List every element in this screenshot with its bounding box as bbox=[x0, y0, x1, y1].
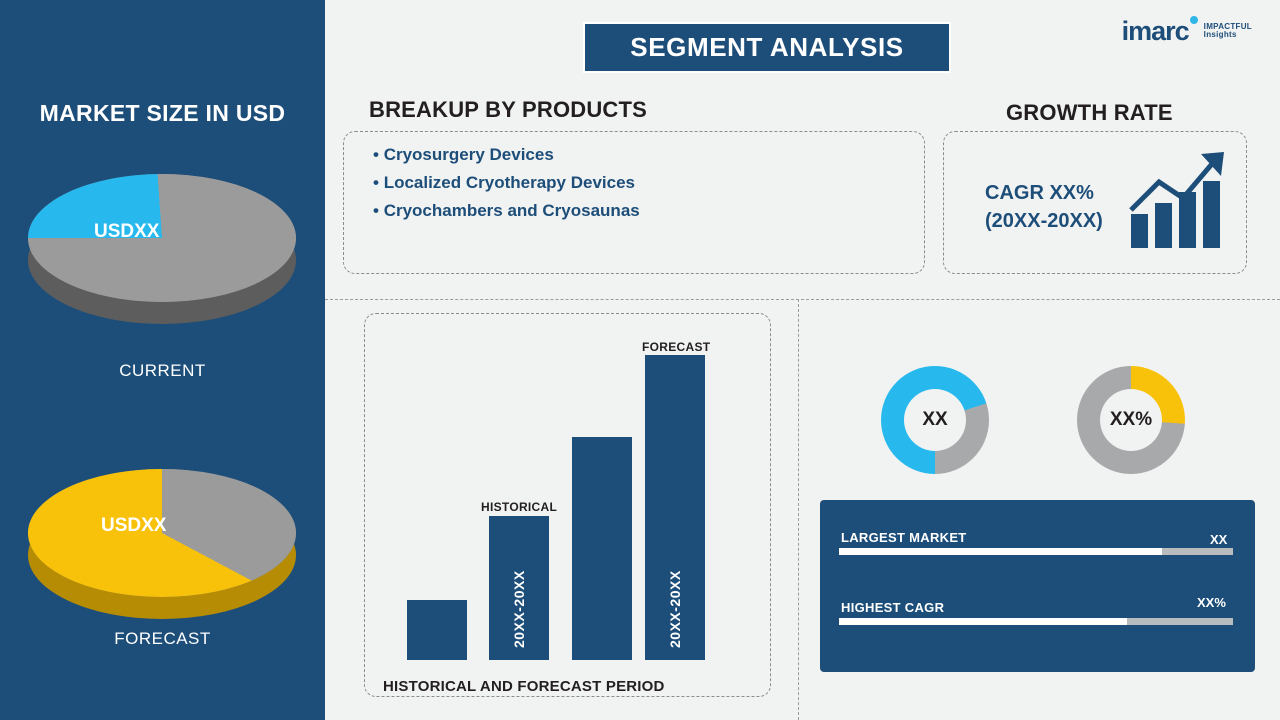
breakup-item-2: Cryochambers and Cryosaunas bbox=[373, 197, 640, 225]
donut-left: XX bbox=[881, 366, 989, 474]
bar-0 bbox=[407, 600, 467, 660]
breakup-list: Cryosurgery Devices Localized Cryotherap… bbox=[373, 141, 640, 225]
left-panel: MARKET SIZE IN USD USDXX CURRENT USDXX F… bbox=[0, 0, 325, 720]
banner-title: SEGMENT ANALYSIS bbox=[630, 32, 904, 63]
pie-chart-current: USDXX bbox=[28, 160, 296, 310]
logo-dot-icon bbox=[1190, 16, 1198, 24]
donut-left-hole: XX bbox=[904, 389, 966, 451]
segment-analysis-banner: SEGMENT ANALYSIS bbox=[583, 22, 951, 73]
growth-section-title: GROWTH RATE bbox=[1006, 100, 1173, 126]
breakup-item-0: Cryosurgery Devices bbox=[373, 141, 640, 169]
stat-1-value: XX% bbox=[1197, 595, 1226, 610]
stats-card bbox=[820, 500, 1255, 672]
cagr-line2: (20XX-20XX) bbox=[985, 207, 1103, 235]
annotation-forecast: FORECAST bbox=[642, 340, 710, 354]
cagr-text: CAGR XX% (20XX-20XX) bbox=[985, 179, 1103, 235]
breakup-item-1: Localized Cryotherapy Devices bbox=[373, 169, 640, 197]
annotation-historical: HISTORICAL bbox=[481, 500, 557, 514]
pie-forecast-value: USDXX bbox=[101, 515, 166, 537]
pie-chart-forecast: USDXX bbox=[28, 455, 296, 605]
logo-tagline-line2: Insights bbox=[1204, 31, 1252, 39]
stat-0-fill bbox=[839, 548, 1162, 555]
pie-current-label: CURRENT bbox=[0, 361, 325, 381]
growth-arrow-icon bbox=[1125, 148, 1235, 252]
pie-current-value: USDXX bbox=[94, 221, 159, 243]
infographic-root: MARKET SIZE IN USD USDXX CURRENT USDXX F… bbox=[0, 0, 1280, 720]
donut-right: XX% bbox=[1077, 366, 1185, 474]
pie-forecast-label: FORECAST bbox=[0, 629, 325, 649]
stat-1-label: HIGHEST CAGR bbox=[841, 600, 944, 615]
imarc-logo: imarc IMPACTFUL Insights bbox=[1122, 14, 1252, 48]
donut-right-value: XX% bbox=[1110, 409, 1152, 431]
chart-xlabel: HISTORICAL AND FORECAST PERIOD bbox=[383, 678, 665, 695]
stat-0-value: XX bbox=[1210, 532, 1227, 547]
bar-1-label: 20XX-20XX bbox=[511, 543, 527, 648]
bar-2 bbox=[572, 437, 632, 660]
breakup-section-title: BREAKUP BY PRODUCTS bbox=[369, 97, 647, 123]
right-area: SEGMENT ANALYSIS imarc IMPACTFUL Insight… bbox=[325, 0, 1280, 720]
stat-0-label: LARGEST MARKET bbox=[841, 530, 967, 545]
divider-horizontal bbox=[325, 299, 1280, 300]
logo-wordmark: imarc bbox=[1122, 16, 1189, 46]
cagr-line1: CAGR XX% bbox=[985, 179, 1103, 207]
bar-3-label: 20XX-20XX bbox=[667, 543, 683, 648]
left-panel-title: MARKET SIZE IN USD bbox=[0, 100, 325, 127]
donut-left-value: XX bbox=[922, 409, 947, 431]
divider-vertical bbox=[798, 299, 799, 720]
donut-right-hole: XX% bbox=[1100, 389, 1162, 451]
pie-current-top bbox=[28, 174, 296, 302]
stat-1-fill bbox=[839, 618, 1127, 625]
